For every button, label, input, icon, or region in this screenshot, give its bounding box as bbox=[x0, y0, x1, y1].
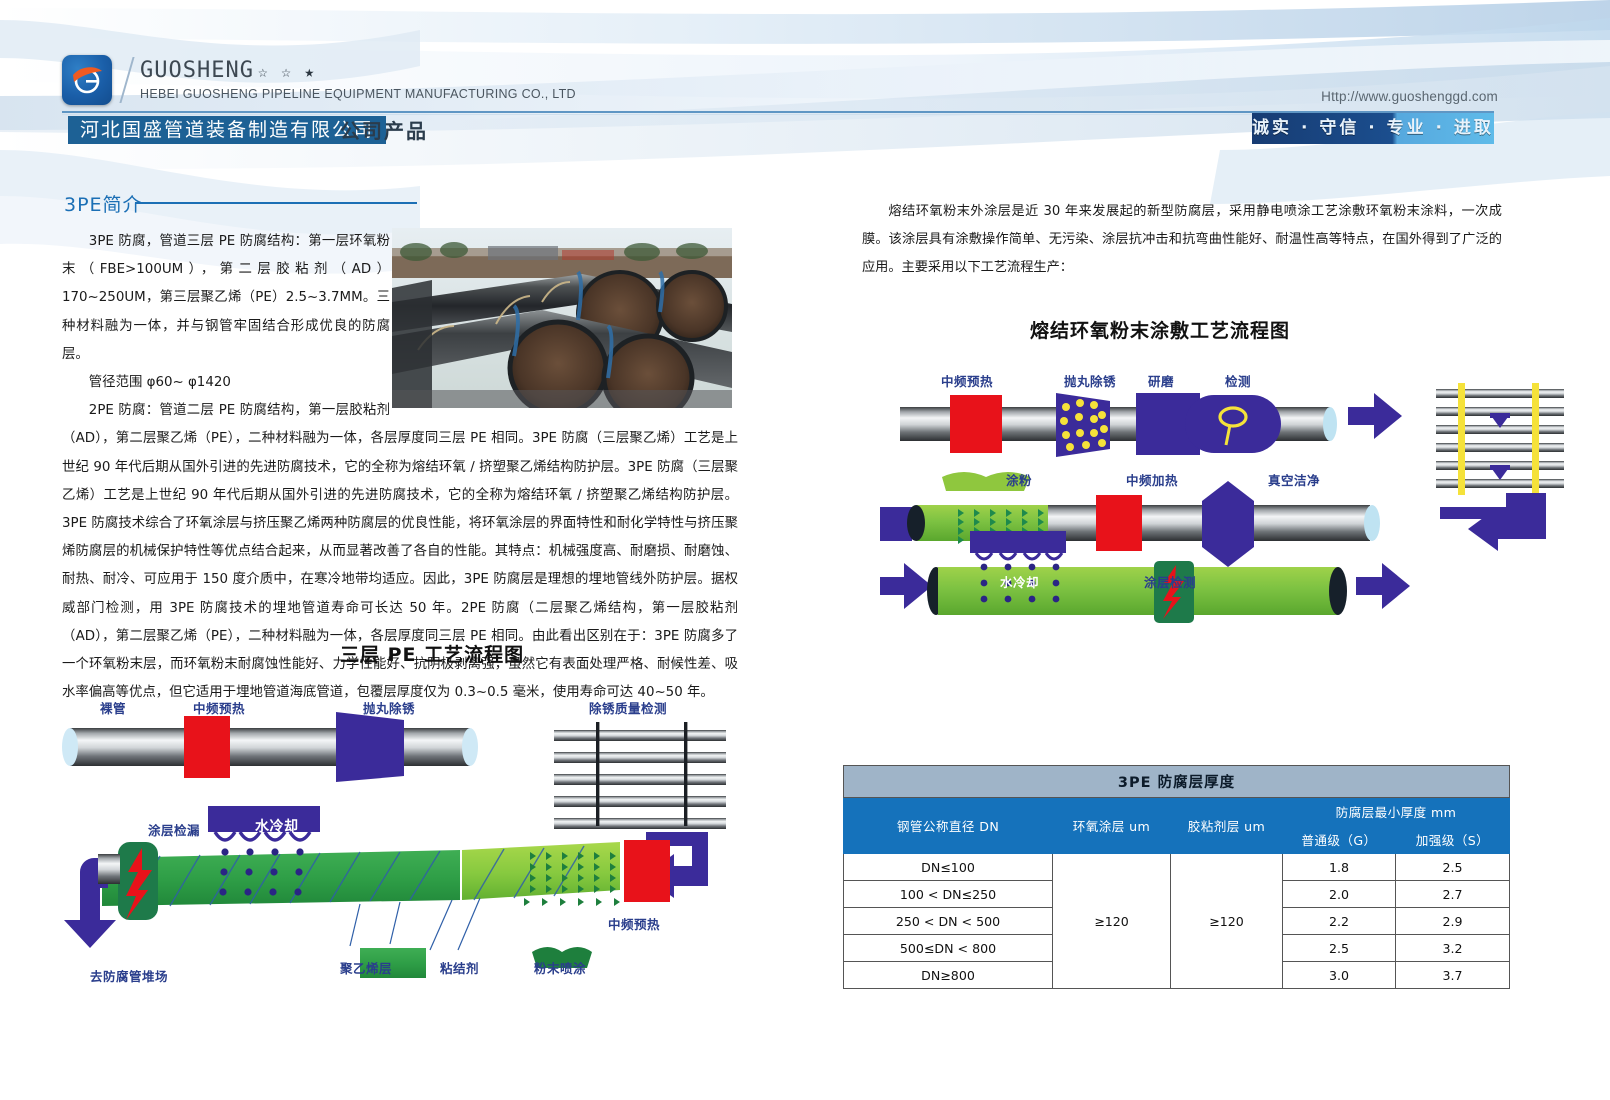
cell-epoxy: ≥120 bbox=[1053, 854, 1171, 989]
right-label-vacuum-clean: 真空洁净 bbox=[1268, 470, 1320, 489]
company-name-cn: 河北国盛管道装备制造有限公司 bbox=[68, 116, 386, 144]
left-label-pe-layer: 聚乙烯层 bbox=[340, 958, 392, 977]
right-text-column: 熔结环氧粉末外涂层是近 30 年来发展起的新型防腐层，采用静电喷涂工艺涂敷环氧粉… bbox=[862, 198, 1502, 282]
product-label-cn: 公司产品 bbox=[340, 115, 428, 144]
right-label-inspect: 检测 bbox=[1225, 371, 1251, 390]
left-label-rust-quality: 除锈质量检测 bbox=[589, 698, 667, 717]
header-min-thickness: 防腐层最小厚度 mm bbox=[1282, 798, 1509, 826]
right-paragraph-1: 熔结环氧粉末外涂层是近 30 年来发展起的新型防腐层，采用静电喷涂工艺涂敷环氧粉… bbox=[862, 198, 1502, 282]
brand-subtitle: HEBEI GUOSHENG PIPELINE EQUIPMENT MANUFA… bbox=[140, 87, 576, 101]
right-label-water-cool: 水冷却 bbox=[1000, 572, 1039, 591]
table-row: DN≤100 ≥120 ≥120 1.8 2.5 bbox=[844, 854, 1510, 881]
logo-glyph bbox=[71, 62, 103, 96]
brand-divider bbox=[119, 57, 134, 103]
right-label-grind: 研磨 bbox=[1148, 371, 1174, 390]
cell-grade-g: 3.0 bbox=[1282, 962, 1395, 989]
cell-grade-s: 3.2 bbox=[1395, 935, 1509, 962]
cell-grade-s: 3.7 bbox=[1395, 962, 1509, 989]
cell-dn: 250 < DN < 500 bbox=[844, 908, 1053, 935]
right-label-preheat: 中频预热 bbox=[941, 371, 993, 390]
left-label-shot-blast: 抛丸除锈 bbox=[363, 698, 415, 717]
right-label-coating-test: 涂层检测 bbox=[1144, 572, 1196, 591]
right-label-powder: 涂粉 bbox=[1006, 470, 1032, 489]
cell-grade-s: 2.9 bbox=[1395, 908, 1509, 935]
brand-stars: ☆ ☆ ★ bbox=[258, 62, 316, 81]
left-label-preheat-2: 中频预热 bbox=[608, 914, 660, 933]
cell-dn: DN≤100 bbox=[844, 854, 1053, 881]
brand-text: GUOSHENG☆ ☆ ★ HEBEI GUOSHENG PIPELINE EQ… bbox=[140, 59, 576, 100]
brand-latin-name: GUOSHENG☆ ☆ ★ bbox=[140, 59, 576, 82]
left-label-preheat: 中频预热 bbox=[193, 698, 245, 717]
header-adhesive: 胶粘剂层 um bbox=[1170, 798, 1282, 854]
left-label-powder-spray: 粉末喷涂 bbox=[534, 958, 586, 977]
table-caption: 3PE 防腐层厚度 bbox=[844, 766, 1510, 798]
right-label-induction-heat: 中频加热 bbox=[1126, 470, 1178, 489]
header-grade-g: 普通级（G） bbox=[1282, 826, 1395, 854]
cell-grade-g: 2.2 bbox=[1282, 908, 1395, 935]
slogan-banner: 诚实 · 守信 · 专业 · 进取 bbox=[1252, 113, 1494, 144]
cell-dn: 100 < DN≤250 bbox=[844, 881, 1053, 908]
cell-adhesive: ≥120 bbox=[1170, 854, 1282, 989]
cell-grade-s: 2.7 bbox=[1395, 881, 1509, 908]
right-diagram-art bbox=[880, 355, 1580, 665]
table-header-row-1: 钢管公称直径 DN 环氧涂层 um 胶粘剂层 um 防腐层最小厚度 mm bbox=[844, 798, 1510, 826]
company-logo-icon bbox=[62, 55, 112, 105]
left-label-leak-test: 涂层检漏 bbox=[148, 820, 200, 839]
left-label-to-yard: 去防腐管堆场 bbox=[90, 966, 168, 985]
header-grade-s: 加强级（S） bbox=[1395, 826, 1509, 854]
page-header: GUOSHENG☆ ☆ ★ HEBEI GUOSHENG PIPELINE EQ… bbox=[0, 0, 1610, 170]
cell-grade-g: 1.8 bbox=[1282, 854, 1395, 881]
cell-grade-g: 2.0 bbox=[1282, 881, 1395, 908]
section-title: 3PE简介 bbox=[64, 190, 143, 217]
photo-wrap-spacer bbox=[390, 228, 738, 414]
cell-dn: DN≥800 bbox=[844, 962, 1053, 989]
website-url[interactable]: Http://www.guoshenggd.com bbox=[1321, 89, 1498, 104]
left-label-water-cool: 水冷却 bbox=[255, 816, 299, 836]
left-diagram-art bbox=[60, 700, 780, 980]
section-title-rule bbox=[135, 202, 417, 204]
brochure-page: GUOSHENG☆ ☆ ★ HEBEI GUOSHENG PIPELINE EQ… bbox=[0, 0, 1610, 1100]
left-label-adhesive: 粘结剂 bbox=[440, 958, 479, 977]
header-epoxy: 环氧涂层 um bbox=[1053, 798, 1171, 854]
right-diagram-title: 熔结环氧粉末涂敷工艺流程图 bbox=[1030, 316, 1290, 343]
left-label-bare-pipe: 裸管 bbox=[100, 698, 126, 717]
right-process-diagram bbox=[880, 355, 1580, 665]
thickness-table: 3PE 防腐层厚度 钢管公称直径 DN 环氧涂层 um 胶粘剂层 um 防腐层最… bbox=[843, 765, 1510, 989]
header-dn: 钢管公称直径 DN bbox=[844, 798, 1053, 854]
left-text-column: 3PE 防腐，管道三层 PE 防腐结构：第一层环氧粉末（FBE>100UM），第… bbox=[62, 228, 738, 707]
table-caption-row: 3PE 防腐层厚度 bbox=[844, 766, 1510, 798]
cell-grade-s: 2.5 bbox=[1395, 854, 1509, 881]
right-label-shot-blast: 抛丸除锈 bbox=[1064, 371, 1116, 390]
left-process-diagram bbox=[60, 700, 780, 980]
cell-grade-g: 2.5 bbox=[1282, 935, 1395, 962]
cell-dn: 500≤DN < 800 bbox=[844, 935, 1053, 962]
brand-lockup: GUOSHENG☆ ☆ ★ HEBEI GUOSHENG PIPELINE EQ… bbox=[62, 55, 576, 105]
left-diagram-title: 三层 PE 工艺流程图 bbox=[340, 640, 524, 667]
